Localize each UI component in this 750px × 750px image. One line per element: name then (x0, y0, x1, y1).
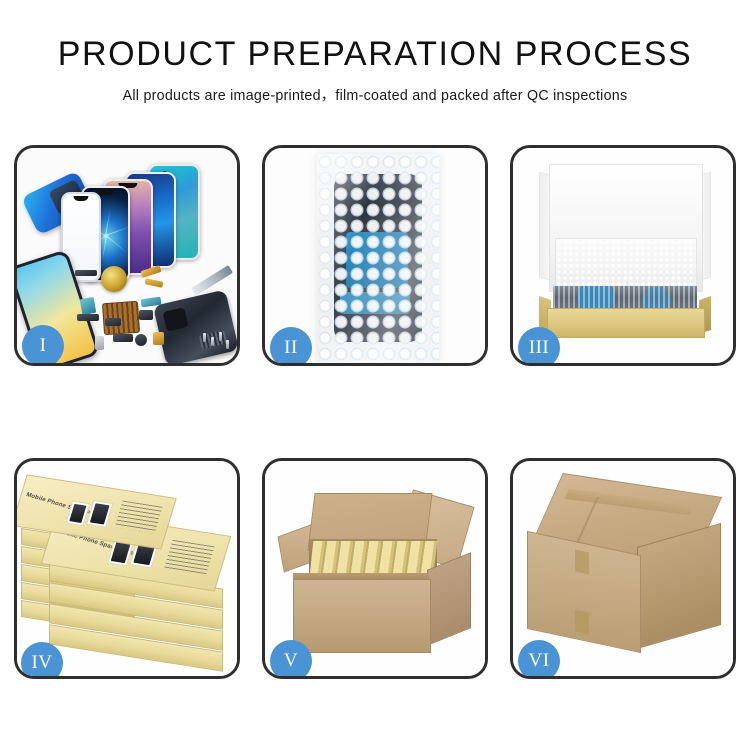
process-step-grid: I II (14, 145, 737, 690)
process-step-1[interactable]: I (14, 145, 240, 366)
step-badge-6: VI (518, 640, 560, 679)
process-step-4[interactable]: Mobile Phone Spare Parts Mobile Phone Sp… (14, 458, 240, 679)
step-badge-5: V (270, 640, 312, 679)
page-title: PRODUCT PREPARATION PROCESS (0, 0, 750, 73)
step-badge-3: III (518, 327, 560, 366)
step-badge-2: II (270, 327, 312, 366)
process-step-6[interactable]: VI (510, 458, 736, 679)
speaker-coil-icon (101, 266, 127, 292)
page-subtitle: All products are image-printed，film-coat… (0, 73, 750, 105)
process-step-3[interactable]: III (510, 145, 736, 366)
step-badge-1: I (22, 325, 64, 366)
step-badge-4: IV (21, 642, 63, 679)
page-header: PRODUCT PREPARATION PROCESS All products… (0, 0, 750, 105)
screws-icon (201, 331, 231, 353)
process-step-2[interactable]: II (262, 145, 488, 366)
process-step-5[interactable]: V (262, 458, 488, 679)
